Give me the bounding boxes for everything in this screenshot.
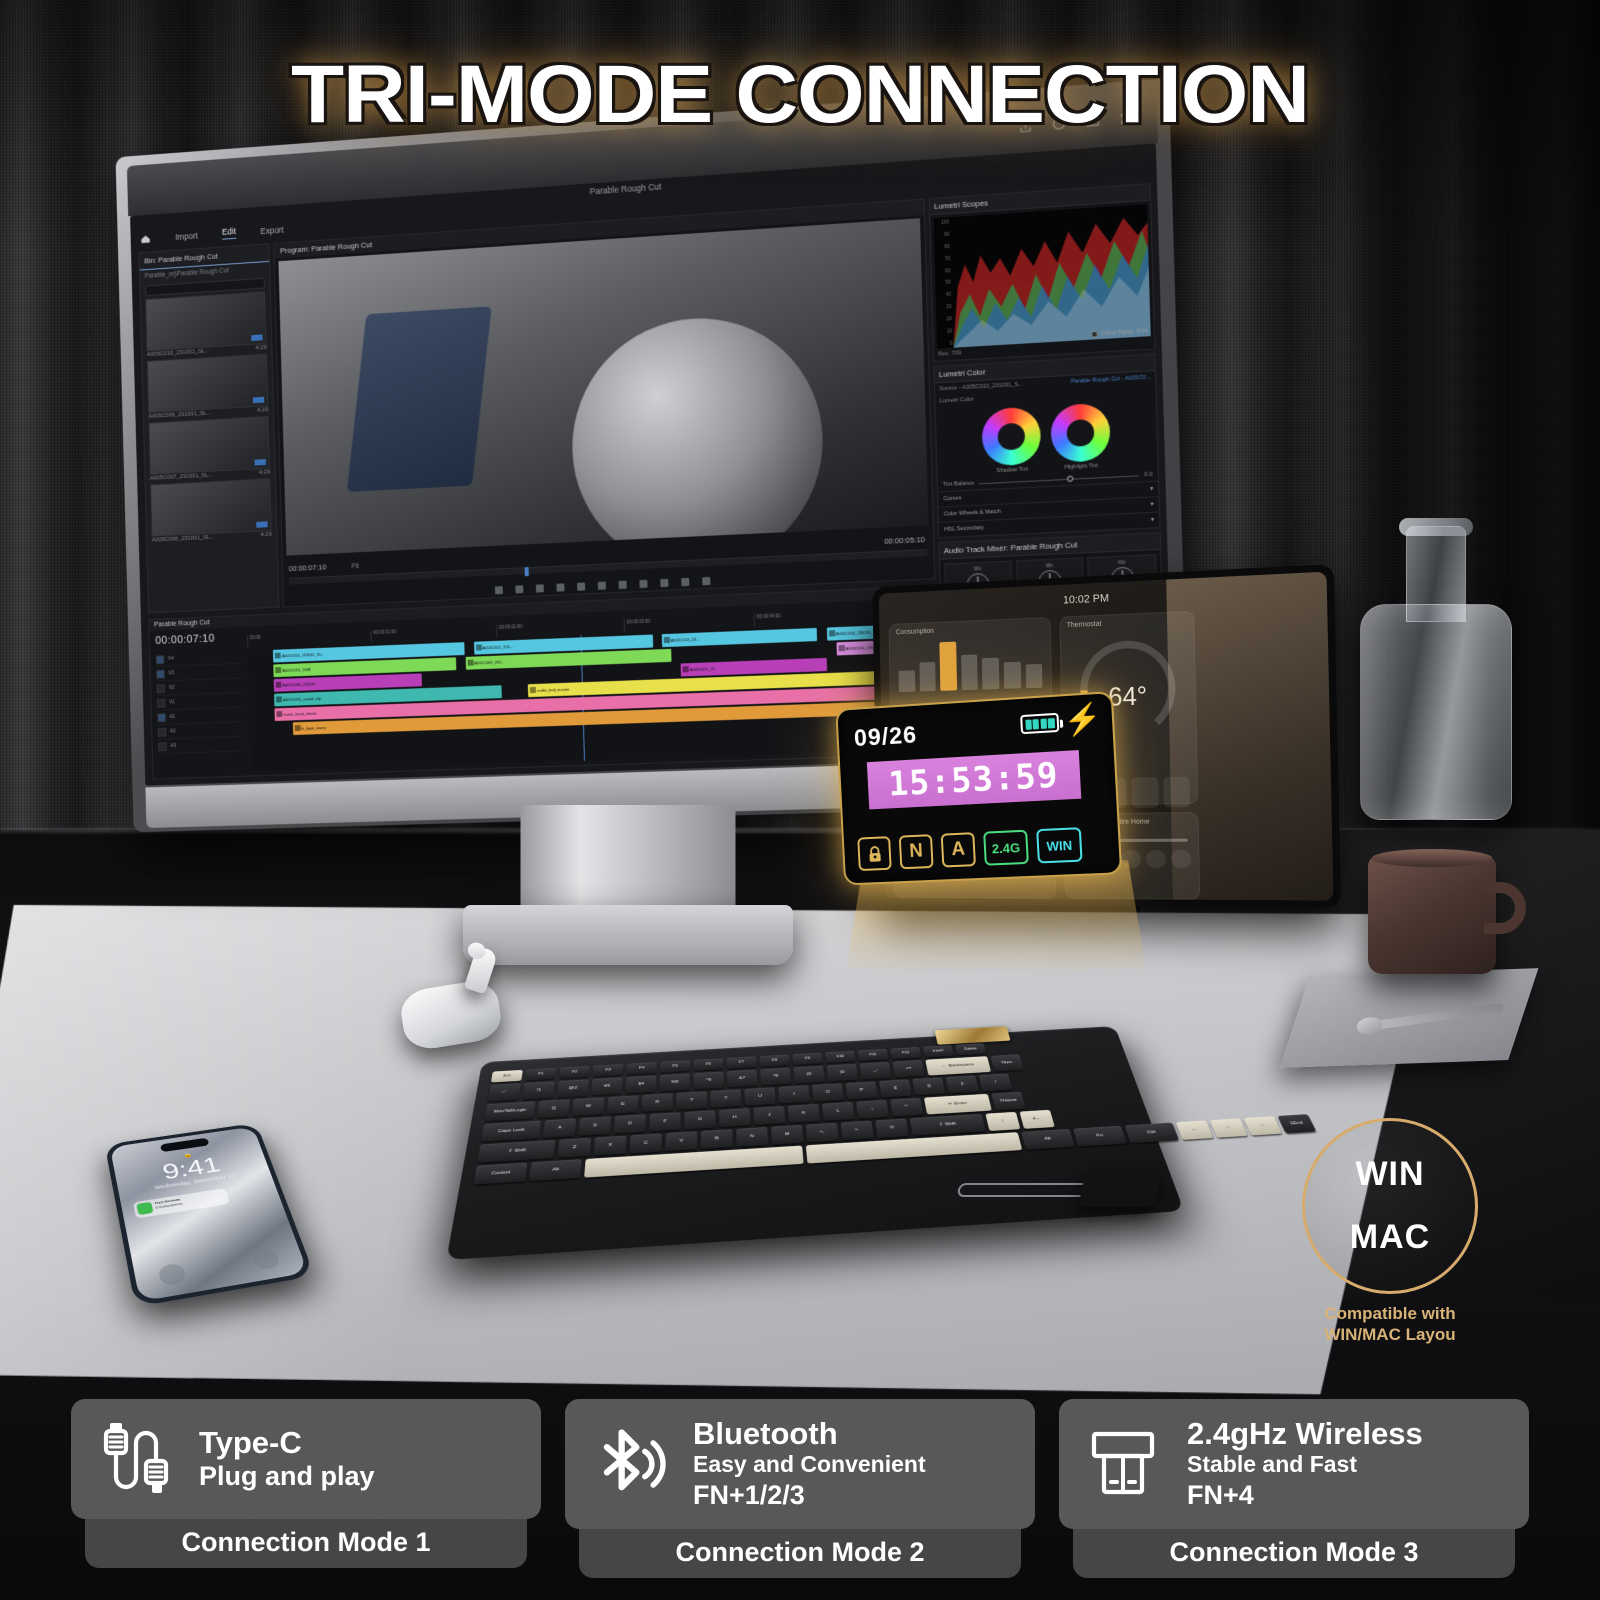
track-toggle-icon[interactable] xyxy=(158,727,167,736)
key-7-home[interactable]: 7Home xyxy=(991,1092,1026,1111)
consumption-bar xyxy=(1025,664,1042,688)
key-alt[interactable]: Alt xyxy=(1021,1129,1075,1150)
axis-tick: 10 xyxy=(947,328,952,333)
lightning-bolt-icon: ⚡ xyxy=(1063,704,1103,737)
step-back-icon[interactable] xyxy=(577,582,585,590)
key-i[interactable]: I xyxy=(778,1085,810,1103)
key-x[interactable]: X xyxy=(594,1136,627,1156)
mixer-strip-label: Mix xyxy=(947,565,1008,573)
bottle-lip xyxy=(1399,518,1473,536)
track-toggle-icon[interactable] xyxy=(157,713,166,722)
tint-balance-value[interactable]: 0.0 xyxy=(1144,472,1152,479)
lumetri-section-label: Lumetri Color xyxy=(940,397,974,405)
feature-card-text: Type-C Plug and play xyxy=(199,1426,375,1492)
mixer-strip-label: Mix xyxy=(1091,558,1153,566)
key-backspace[interactable]: ← Backspace xyxy=(925,1056,991,1075)
monitor-stand-foot xyxy=(463,905,793,965)
consumption-bar xyxy=(940,642,957,691)
mark-out-icon[interactable] xyxy=(536,584,544,592)
program-zoom-select[interactable]: Fit xyxy=(351,563,359,570)
feature-card-text: 2.4gHz Wireless Stable and Fast FN+4 xyxy=(1187,1417,1423,1511)
chevron-down-icon[interactable]: ▾ xyxy=(1151,517,1154,523)
bin-clip-item[interactable]: A005C009_231031_SL... 4:29 xyxy=(147,354,268,420)
key--8[interactable]: *8 xyxy=(760,1068,791,1086)
right-panel-stack: Lumetri Scopes 100 90 80 70 60 50 40 30 xyxy=(929,183,1162,579)
key-w[interactable]: W xyxy=(572,1097,604,1116)
key-delete[interactable]: Delete xyxy=(955,1043,986,1055)
key--4[interactable]: $4 xyxy=(625,1075,656,1093)
key-ctrl[interactable]: Ctrl xyxy=(1124,1123,1179,1144)
feature-cards: Type-C Plug and play Connection Mode 1 B… xyxy=(0,1399,1600,1578)
coffee-cup xyxy=(1368,856,1496,974)
feature-card-body: Type-C Plug and play xyxy=(71,1399,541,1519)
winmac-line-win: WIN xyxy=(1355,1155,1424,1194)
key-f7[interactable]: F7 xyxy=(727,1056,757,1068)
axis-tick: 20 xyxy=(947,316,952,321)
usb-c-cable-icon xyxy=(93,1419,177,1499)
feature-card-body: 2.4gHz Wireless Stable and Fast FN+4 xyxy=(1059,1399,1529,1529)
winmac-badge: WIN MAC Compatible withWIN/MAC Layou xyxy=(1290,1118,1490,1345)
wireless-24g-icon: 2.4G xyxy=(983,830,1029,866)
key-j[interactable]: J xyxy=(753,1106,785,1125)
key-4-[interactable]: 4← xyxy=(1019,1110,1054,1129)
key-k[interactable]: K xyxy=(788,1104,820,1123)
notification-text: Tech Reviews 5 Subscriptions xyxy=(154,1197,184,1213)
key-n[interactable]: N xyxy=(736,1127,768,1147)
key-num[interactable]: Num xyxy=(991,1054,1024,1071)
key-f2[interactable]: F2 xyxy=(559,1066,590,1079)
program-video-preview[interactable] xyxy=(278,218,928,555)
key-l[interactable]: L xyxy=(822,1102,855,1121)
track-label: A3 xyxy=(170,743,176,749)
mark-in-icon[interactable] xyxy=(515,585,523,593)
timeline-track-headers: V4 V3 V2 V1 A1 A2 A3 xyxy=(156,649,245,774)
shadow-tint-wheel-group[interactable]: Shadow Tint xyxy=(981,406,1041,475)
feature-subtitle: Plug and play xyxy=(199,1460,375,1492)
key--3[interactable]: #3 xyxy=(591,1077,623,1095)
feature-title: Type-C xyxy=(199,1426,375,1460)
feature-footer: Connection Mode 3 xyxy=(1073,1529,1515,1578)
clamp-checkbox[interactable] xyxy=(1091,331,1098,338)
camera-icon[interactable] xyxy=(250,1247,281,1271)
axis-tick: 50 xyxy=(945,280,950,285)
key-f8[interactable]: F8 xyxy=(759,1055,789,1067)
axis-tick: 0 xyxy=(950,341,953,346)
feature-detail: FN+4 xyxy=(1187,1479,1423,1511)
key-f[interactable]: F xyxy=(649,1112,681,1131)
bottle-neck xyxy=(1406,526,1466,622)
flashlight-icon[interactable] xyxy=(157,1262,187,1287)
color-wheels: Shadow Tint Highlight Tint xyxy=(936,396,1158,479)
bluetooth-icon xyxy=(587,1422,671,1506)
key-f11[interactable]: F11 xyxy=(858,1049,889,1061)
key---[interactable]: _- xyxy=(860,1062,892,1080)
consumption-bar xyxy=(899,671,916,693)
color-wheel-icon[interactable] xyxy=(1050,403,1111,464)
feature-card-24g[interactable]: 2.4gHz Wireless Stable and Fast FN+4 Con… xyxy=(1059,1399,1529,1578)
caps-lock-icon: A xyxy=(941,832,976,867)
track-label: A2 xyxy=(170,728,176,734)
feature-subtitle: Easy and Convenient xyxy=(693,1451,926,1479)
key-shift[interactable]: ⇧ Shift xyxy=(910,1114,986,1136)
rgb-parade-graph xyxy=(950,204,1151,348)
key-f12[interactable]: F12 xyxy=(890,1047,921,1059)
keyboard-display-module: 09/26 ⚡ 15:53:59 N A 2.4G WIN xyxy=(835,691,1122,885)
tablet-clock: 10:02 PM xyxy=(1063,592,1109,606)
feature-subtitle: Stable and Fast xyxy=(1187,1451,1423,1479)
key-f5[interactable]: F5 xyxy=(660,1060,690,1072)
consumption-bars xyxy=(890,630,1052,692)
feature-footer: Connection Mode 2 xyxy=(579,1529,1021,1578)
program-timecode: 00:00:07:10 xyxy=(289,563,327,574)
clip-thumbnail[interactable] xyxy=(149,416,270,475)
key--[interactable]: {[ xyxy=(879,1079,912,1097)
timeline-clip[interactable]: A005C013_23... xyxy=(661,628,817,647)
notification-app-icon xyxy=(136,1202,153,1215)
clip-duration: 4:29 xyxy=(261,532,272,538)
key--1[interactable]: !1 xyxy=(522,1081,555,1099)
axis-tick: 70 xyxy=(945,256,950,261)
bin-clip-item[interactable]: A005C007_231031_SL... 4:29 xyxy=(149,416,270,482)
key-fn[interactable]: Fn xyxy=(1073,1126,1127,1147)
play-icon[interactable] xyxy=(598,582,606,590)
tint-balance-label: Tint Balance xyxy=(943,480,975,488)
program-monitor-panel: Program: Parable Rough Cut 00:00:07:10 F… xyxy=(273,199,935,608)
key-+-[interactable]: += xyxy=(892,1060,924,1078)
feature-card-bluetooth[interactable]: Bluetooth Easy and Convenient FN+1/2/3 C… xyxy=(565,1399,1035,1578)
winmac-caption-line: WIN/MAC Layou xyxy=(1290,1325,1490,1346)
track-label: V4 xyxy=(168,656,174,662)
num-lock-icon: N xyxy=(899,834,934,869)
mixer-strip-label: Mix xyxy=(1019,562,1081,570)
key--[interactable]: }] xyxy=(912,1077,945,1095)
key-f6[interactable]: F6 xyxy=(693,1058,723,1070)
preview-subject-leg xyxy=(347,307,492,493)
track-header[interactable]: A3 xyxy=(158,737,244,754)
menu-item-edit[interactable]: Edit xyxy=(222,226,236,240)
key-c[interactable]: C xyxy=(629,1133,662,1153)
lock-icon xyxy=(857,836,891,871)
lumetri-scopes-panel: Lumetri Scopes 100 90 80 70 60 50 40 30 xyxy=(929,183,1156,362)
accordion-label: Curves xyxy=(943,495,961,502)
accordion-label: HSL Secondary xyxy=(944,525,984,533)
menu-item-export[interactable]: Export xyxy=(260,224,283,235)
phone-notification[interactable]: Tech Reviews 5 Subscriptions xyxy=(133,1188,230,1219)
bin-clip-item[interactable]: A005C006_231031_SL... 4:29 xyxy=(150,478,271,543)
phone-notch xyxy=(160,1138,210,1153)
consumption-bar xyxy=(982,657,999,689)
lumetri-color-panel: Lumetri Color Source - A005C010_231031_S… xyxy=(933,353,1160,538)
axis-tick: 30 xyxy=(946,304,951,309)
program-playhead[interactable] xyxy=(525,567,529,576)
bottle-body xyxy=(1360,604,1512,820)
key-shift[interactable]: ⇧ Shift xyxy=(477,1140,555,1163)
battery-icon xyxy=(1020,713,1059,734)
track-label: A1 xyxy=(169,714,175,720)
key--[interactable]: "' xyxy=(890,1098,924,1117)
feature-footer: Connection Mode 1 xyxy=(85,1519,527,1568)
axis-tick: 60 xyxy=(945,268,950,273)
key-d[interactable]: D xyxy=(614,1114,646,1133)
key-u[interactable]: U xyxy=(744,1087,775,1105)
highlight-tint-wheel-group[interactable]: Highlight Tint xyxy=(1050,403,1111,472)
clip-duration: 4:29 xyxy=(256,345,267,352)
scope-waveform[interactable]: 100 90 80 70 60 50 40 30 20 10 0 xyxy=(933,204,1150,349)
menu-item-import[interactable]: Import xyxy=(175,230,198,241)
key-f1[interactable]: F1 xyxy=(525,1068,557,1081)
timeline-timecode[interactable]: 00:00:07:10 xyxy=(155,633,215,647)
key-h[interactable]: H xyxy=(719,1108,751,1127)
clip-thumbnail[interactable] xyxy=(147,354,268,413)
track-toggle-icon[interactable] xyxy=(157,698,166,707)
key--[interactable]: ?/ xyxy=(875,1119,909,1138)
key--7[interactable]: &7 xyxy=(727,1070,758,1088)
next-icon[interactable] xyxy=(1146,850,1167,868)
key-f9[interactable]: F9 xyxy=(792,1053,822,1065)
slider-knob[interactable] xyxy=(1067,475,1073,481)
home-icon[interactable] xyxy=(140,233,151,243)
key-b[interactable]: B xyxy=(701,1129,733,1149)
axis-tick: 40 xyxy=(946,292,951,297)
cable-plug xyxy=(1078,1171,1162,1207)
key-r[interactable]: R xyxy=(642,1093,673,1112)
module-body: 09/26 ⚡ 15:53:59 N A 2.4G WIN xyxy=(835,691,1122,885)
thermostat-value: 64° xyxy=(1108,680,1148,712)
key-esc[interactable]: Esc xyxy=(491,1070,523,1083)
key-space[interactable]: ↑ xyxy=(985,1112,1020,1131)
project-bin-panel: Bin: Parable Rough Cut Parable_mj\Parabl… xyxy=(138,243,279,613)
mode-tile-cool[interactable] xyxy=(1163,777,1190,808)
winmac-line-mac: MAC xyxy=(1350,1218,1430,1257)
lift-icon[interactable] xyxy=(660,579,668,587)
winmac-circle: WIN MAC xyxy=(1302,1118,1478,1294)
chevron-down-icon[interactable]: ▾ xyxy=(1150,486,1153,492)
module-time: 15:53:59 xyxy=(867,750,1081,809)
module-date: 09/26 xyxy=(853,722,917,753)
windows-mode-icon: WIN xyxy=(1036,827,1082,863)
extract-icon[interactable] xyxy=(681,578,689,586)
key--0[interactable]: )0 xyxy=(827,1064,859,1082)
key-o[interactable]: O xyxy=(812,1083,844,1101)
key--[interactable]: |\ xyxy=(946,1075,980,1093)
feature-title: Bluetooth xyxy=(693,1417,926,1451)
key-g[interactable]: G xyxy=(684,1110,715,1129)
track-label: V1 xyxy=(169,699,175,705)
feature-detail: FN+1/2/3 xyxy=(693,1479,926,1511)
winmac-caption-line: Compatible with xyxy=(1290,1304,1490,1325)
program-duration: 00:00:05:10 xyxy=(884,535,925,546)
clip-thumbnail[interactable] xyxy=(145,291,266,351)
key-e[interactable]: E xyxy=(607,1095,639,1114)
key-capslock[interactable]: Caps Lock xyxy=(481,1121,541,1142)
axis-tick: 90 xyxy=(944,231,949,236)
go-to-out-icon[interactable] xyxy=(639,580,647,588)
consumption-bar xyxy=(919,662,936,692)
accordion-label: Color Wheels & Match xyxy=(944,509,1001,518)
key-z[interactable]: Z xyxy=(557,1138,591,1158)
key-space[interactable]: / xyxy=(979,1073,1013,1091)
consumption-bar xyxy=(961,654,978,690)
clip-duration: 4:29 xyxy=(259,470,270,476)
key-f4[interactable]: F4 xyxy=(626,1062,656,1074)
axis-tick: 80 xyxy=(944,244,949,249)
track-label: V2 xyxy=(169,685,175,691)
track-toggle-icon[interactable] xyxy=(156,669,165,678)
feature-card-body: Bluetooth Easy and Convenient FN+1/2/3 xyxy=(565,1399,1035,1529)
consumption-bar xyxy=(1004,662,1021,689)
bit-depth-label: 8-bit xyxy=(1137,328,1148,335)
key-t[interactable]: T xyxy=(676,1091,707,1110)
product-scene: Parable Rough Cut Import Edit Export Bin… xyxy=(0,0,1600,1600)
bin-clip-item[interactable]: A005C010_231031_SL... 4:29 xyxy=(145,291,266,358)
winmac-caption: Compatible withWIN/MAC Layou xyxy=(1290,1304,1490,1345)
step-forward-icon[interactable] xyxy=(619,581,627,589)
key-q[interactable]: Q xyxy=(537,1099,570,1118)
go-to-in-icon[interactable] xyxy=(556,583,564,591)
feature-title: 2.4gHz Wireless xyxy=(1187,1417,1423,1451)
track-toggle-icon[interactable] xyxy=(156,655,165,664)
key-s[interactable]: S xyxy=(578,1116,611,1135)
feature-card-typec[interactable]: Type-C Plug and play Connection Mode 1 xyxy=(71,1399,541,1578)
page-title: TRI-MODE CONNECTION xyxy=(0,48,1600,142)
clip-duration: 4:29 xyxy=(257,407,268,413)
preview-subject-ball xyxy=(569,311,826,556)
key-y[interactable]: Y xyxy=(710,1089,741,1107)
key-enter[interactable]: ↵ Enter xyxy=(924,1094,992,1115)
color-wheel-icon[interactable] xyxy=(981,406,1041,466)
chevron-down-icon[interactable]: ▾ xyxy=(1150,502,1153,508)
key--2[interactable]: @2 xyxy=(557,1079,589,1097)
key-control[interactable]: Control xyxy=(473,1163,527,1185)
key-f10[interactable]: F10 xyxy=(825,1051,856,1063)
clip-thumbnail[interactable] xyxy=(150,478,271,536)
key--[interactable]: <, xyxy=(806,1123,839,1143)
key--6[interactable]: ^6 xyxy=(693,1072,723,1090)
key-f3[interactable]: F3 xyxy=(593,1064,624,1077)
feature-card-text: Bluetooth Easy and Convenient FN+1/2/3 xyxy=(693,1417,926,1511)
key--[interactable]: ~` xyxy=(488,1083,521,1101)
key-v[interactable]: V xyxy=(665,1131,697,1151)
key-insert[interactable]: Insert xyxy=(923,1045,954,1057)
glass-bottle xyxy=(1360,518,1512,820)
thermostat-label: Thermostat xyxy=(1060,612,1194,630)
key-mon-tab-logic[interactable]: MonTabLogic xyxy=(484,1101,535,1121)
key-a[interactable]: A xyxy=(543,1119,576,1138)
track-label: V3 xyxy=(168,670,174,676)
key--9[interactable]: (9 xyxy=(793,1066,824,1084)
export-frame-icon[interactable] xyxy=(702,577,710,585)
marker-icon[interactable] xyxy=(495,586,503,594)
key-alt[interactable]: Alt xyxy=(529,1159,582,1181)
mode-tile-fan[interactable] xyxy=(1132,777,1159,808)
usb-dongle-icon xyxy=(1081,1424,1165,1504)
key--[interactable]: >. xyxy=(840,1121,874,1140)
axis-tick: 100 xyxy=(941,219,949,225)
repeat-icon[interactable] xyxy=(1171,850,1192,868)
track-toggle-icon[interactable] xyxy=(157,684,166,693)
usb-cable xyxy=(958,1165,1158,1215)
key-p[interactable]: P xyxy=(845,1081,877,1099)
key--[interactable]: :; xyxy=(856,1100,889,1119)
track-toggle-icon[interactable] xyxy=(158,742,167,751)
key--5[interactable]: %5 xyxy=(659,1073,689,1091)
module-status-row: N A 2.4G WIN xyxy=(857,826,1109,871)
key-m[interactable]: M xyxy=(771,1125,804,1145)
